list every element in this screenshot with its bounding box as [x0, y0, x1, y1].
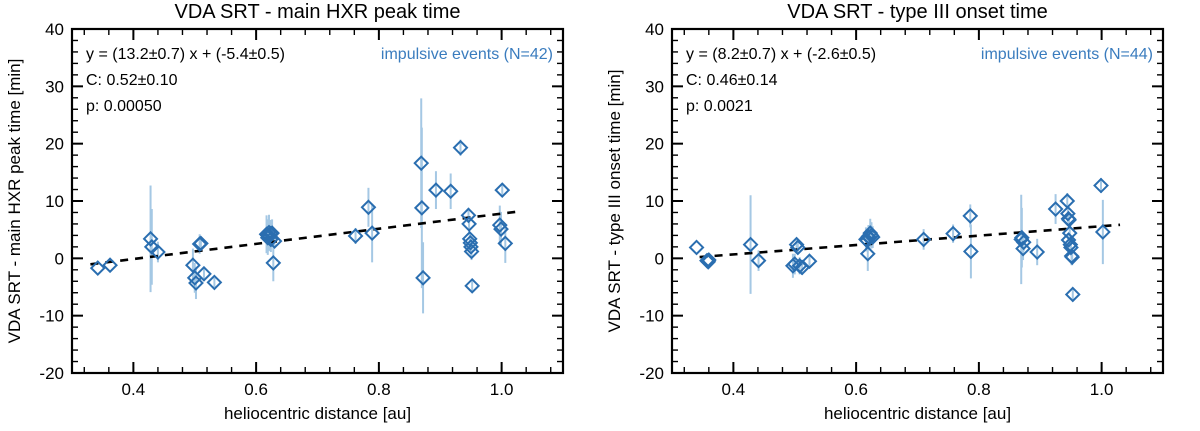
x-axis-title: heliocentric distance [au]	[224, 404, 411, 423]
annotation-line: C: 0.52±0.10	[86, 72, 178, 89]
y-axis-title: VDA SRT - main HXR peak time [min]	[5, 59, 24, 344]
y-tick-label: -10	[639, 307, 664, 326]
legend-label: impulsive events (N=44)	[981, 46, 1153, 63]
x-tick-label: 0.8	[367, 380, 391, 399]
y-tick-label: 10	[645, 192, 664, 211]
x-tick-label: 0.4	[122, 380, 146, 399]
annotation-line: y = (8.2±0.7) x + (-2.6±0.5)	[686, 46, 876, 63]
x-tick-label: 1.0	[490, 380, 514, 399]
y-tick-label: 30	[45, 77, 64, 96]
x-tick-label: 1.0	[1090, 380, 1114, 399]
data-markers	[91, 141, 512, 292]
panel-left: VDA SRT - main HXR peak time0.40.60.81.0…	[0, 0, 600, 431]
annotation-line: p: 0.0021	[686, 98, 753, 115]
y-axis-title: VDA SRT - type III onset time [min]	[605, 70, 624, 333]
x-axis-title: heliocentric distance [au]	[824, 404, 1011, 423]
figure-root: VDA SRT - main HXR peak time0.40.60.81.0…	[0, 0, 1200, 431]
chart-title: VDA SRT - type III onset time	[787, 1, 1047, 23]
annotation-line: C: 0.46±0.14	[686, 72, 778, 89]
y-tick-label: 0	[655, 249, 664, 268]
scatter-plot-right: VDA SRT - type III onset time0.40.60.81.…	[600, 0, 1200, 431]
y-tick-label: -10	[39, 307, 64, 326]
annotation-line: p: 0.00050	[86, 98, 162, 115]
x-tick-label: 0.6	[244, 380, 268, 399]
fit-line	[700, 225, 1120, 257]
y-tick-label: -20	[39, 364, 64, 383]
y-tick-label: 10	[45, 192, 64, 211]
panel-right: VDA SRT - type III onset time0.40.60.81.…	[600, 0, 1200, 431]
y-tick-label: 40	[645, 20, 664, 39]
y-tick-label: 20	[45, 135, 64, 154]
y-tick-label: 30	[645, 77, 664, 96]
y-tick-label: 20	[645, 135, 664, 154]
annotation-line: y = (13.2±0.7) x + (-5.4±0.5)	[86, 46, 285, 63]
data-markers	[690, 179, 1109, 301]
x-tick-label: 0.6	[844, 380, 868, 399]
data-point-marker	[690, 241, 703, 254]
x-tick-label: 0.4	[722, 380, 746, 399]
y-tick-label: -20	[639, 364, 664, 383]
annotation-block: y = (8.2±0.7) x + (-2.6±0.5)C: 0.46±0.14…	[686, 46, 876, 115]
chart-title: VDA SRT - main HXR peak time	[174, 1, 460, 23]
annotation-block: y = (13.2±0.7) x + (-5.4±0.5)C: 0.52±0.1…	[86, 46, 285, 115]
y-tick-label: 40	[45, 20, 64, 39]
y-tick-label: 0	[55, 249, 64, 268]
scatter-plot-left: VDA SRT - main HXR peak time0.40.60.81.0…	[0, 0, 600, 431]
legend-label: impulsive events (N=42)	[381, 46, 553, 63]
x-tick-label: 0.8	[967, 380, 991, 399]
